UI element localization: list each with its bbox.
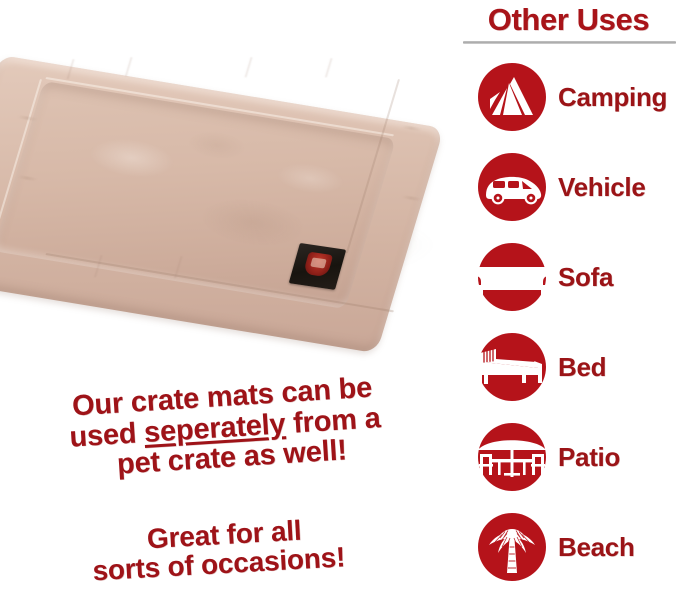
vehicle-icon bbox=[476, 151, 548, 223]
use-item-beach: Beach bbox=[458, 502, 679, 592]
use-item-sofa: Sofa bbox=[458, 232, 679, 322]
product-image bbox=[0, 55, 450, 320]
use-label-beach: Beach bbox=[558, 532, 635, 563]
pet-crate-mat bbox=[0, 55, 450, 320]
use-label-bed: Bed bbox=[558, 352, 606, 383]
bed-icon bbox=[476, 331, 548, 403]
use-item-patio: Patio bbox=[458, 412, 679, 502]
use-label-patio: Patio bbox=[558, 442, 620, 473]
use-label-sofa: Sofa bbox=[558, 262, 613, 293]
mat-crease bbox=[124, 57, 133, 76]
tent-icon bbox=[476, 61, 548, 133]
use-item-vehicle: Vehicle bbox=[458, 142, 679, 232]
brand-crest-icon bbox=[303, 252, 333, 278]
sofa-icon bbox=[476, 241, 548, 313]
patio-icon bbox=[476, 421, 548, 493]
other-uses-title: Other Uses bbox=[458, 2, 679, 38]
title-divider bbox=[463, 41, 676, 44]
other-uses-panel: Other Uses Camping bbox=[458, 0, 679, 593]
use-label-camping: Camping bbox=[558, 82, 667, 113]
use-label-vehicle: Vehicle bbox=[558, 172, 646, 203]
slogan-primary: Our crate mats can be used seperately fr… bbox=[25, 370, 422, 487]
use-item-bed: Bed bbox=[458, 322, 679, 412]
slogan-secondary: Great for all sorts of occasions! bbox=[59, 511, 392, 588]
mat-crease bbox=[244, 57, 253, 77]
slogan-primary-line-2-post: from a bbox=[284, 402, 381, 440]
use-item-camping: Camping bbox=[458, 52, 679, 142]
other-uses-list: Camping bbox=[458, 52, 679, 592]
palm-tree-icon bbox=[476, 511, 548, 583]
mat-crease bbox=[324, 58, 333, 77]
